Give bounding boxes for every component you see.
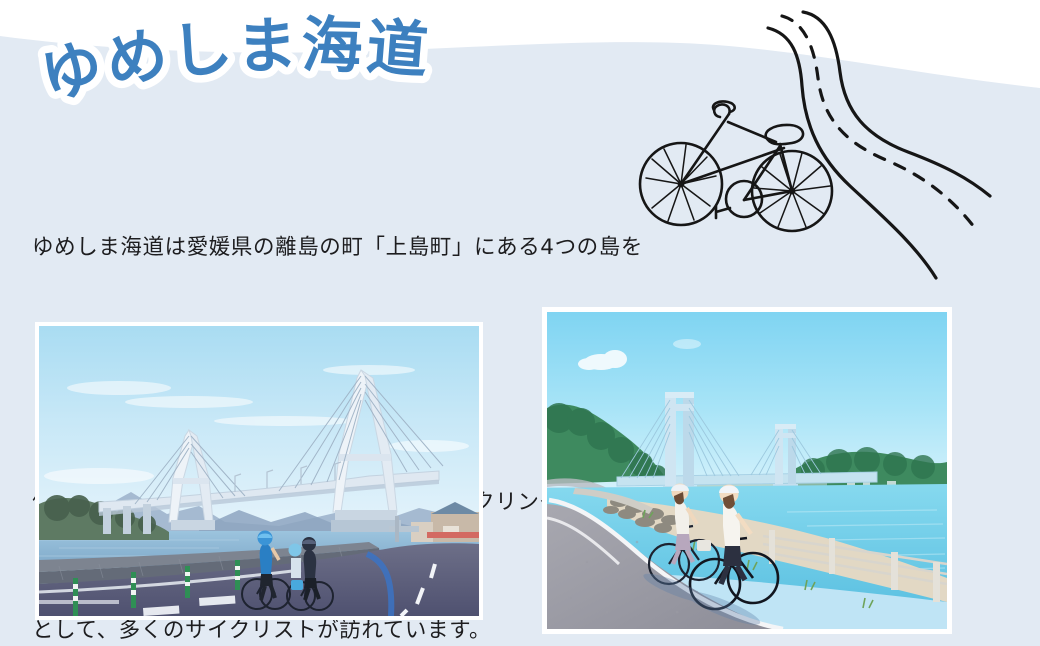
page-title: ゆめしま海道 ゆめしま海道 (40, 24, 510, 120)
photo-bridge-cyclists-right[interactable] (542, 307, 952, 634)
bicycle-seat-tube (744, 146, 780, 200)
bicycle-down-tube (681, 148, 784, 184)
page-root: ゆめしま海道 ゆめしま海道 ゆめしま海道は愛媛県の離島の町「上島町」にある4つの… (0, 0, 1040, 646)
page-title-text: ゆめしま海道 (34, 10, 434, 114)
bicycle-basket (697, 540, 711, 551)
bicycle-pedal (716, 206, 730, 218)
photo-right-image (547, 312, 947, 629)
bicycle-saddle (766, 125, 803, 144)
bridge-piers (103, 504, 151, 534)
photo-bridge-cyclists-left[interactable] (35, 322, 483, 620)
photo-left-image (39, 326, 479, 616)
description-line-1: ゆめしま海道は愛媛県の離島の町「上島町」にある4つの島を (32, 227, 672, 270)
cyclist-pannier (291, 580, 303, 590)
